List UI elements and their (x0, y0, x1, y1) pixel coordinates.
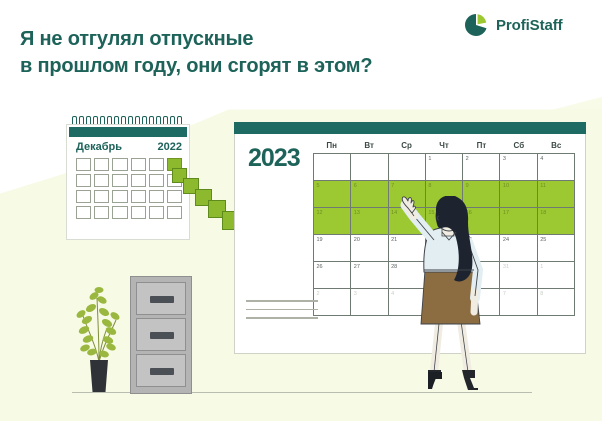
december-calendar-header-bar (69, 127, 187, 137)
brand-logo[interactable]: ProfiStaff (463, 12, 563, 38)
calendar-day-cell[interactable]: 27 (351, 262, 388, 289)
december-day-cell (76, 206, 91, 219)
december-day-cell (149, 206, 164, 219)
calendar-day-cell[interactable] (351, 154, 388, 181)
drawer-handle-icon (150, 368, 174, 375)
december-calendar: Декабрь 2022 (66, 116, 190, 240)
calendar-day-number: 8 (540, 291, 543, 297)
december-day-cell (112, 158, 127, 171)
calendar-day-cell[interactable]: 3 (351, 289, 388, 316)
december-calendar-title: Декабрь 2022 (76, 141, 182, 153)
day-of-week-1: Вт (350, 141, 387, 153)
wall-calendar-year: 2023 (248, 144, 300, 173)
note-line (246, 317, 318, 319)
day-of-week-header-row: ПнВтСрЧтПтСбВс (313, 141, 575, 153)
december-month-label: Декабрь (76, 141, 122, 153)
december-day-cell (149, 158, 164, 171)
calendar-day-number: 26 (317, 264, 323, 270)
december-day-cell (94, 206, 109, 219)
calendar-day-number: 27 (354, 264, 360, 270)
december-day-cell (112, 174, 127, 187)
december-day-cell (167, 158, 182, 171)
day-of-week-5: Сб (500, 141, 537, 153)
calendar-day-number: 19 (317, 237, 323, 243)
december-day-cell (131, 174, 146, 187)
december-day-cell (112, 190, 127, 203)
calendar-day-number: 7 (391, 183, 394, 189)
december-calendar-grid (76, 158, 182, 219)
calendar-day-cell[interactable]: 19 (314, 235, 351, 262)
december-day-cell (76, 174, 91, 187)
day-of-week-3: Чт (425, 141, 462, 153)
cabinet-drawer-1 (136, 282, 186, 315)
calendar-day-cell[interactable]: 8 (538, 289, 575, 316)
december-year-label: 2022 (158, 141, 182, 153)
cabinet-drawer-2 (136, 318, 186, 351)
calendar-day-number: 11 (540, 183, 546, 189)
illustration-scene: Я не отгулял отпускные в прошлом году, о… (0, 0, 602, 421)
pie-chart-logo-icon (463, 12, 489, 38)
december-day-cell (167, 190, 182, 203)
calendar-day-number: 6 (354, 183, 357, 189)
calendar-day-cell[interactable]: 2 (463, 154, 500, 181)
calendar-day-number: 2 (466, 156, 469, 162)
calendar-day-cell[interactable]: 13 (351, 208, 388, 235)
calendar-day-cell[interactable]: 3 (500, 154, 537, 181)
calendar-day-cell[interactable]: 11 (538, 181, 575, 208)
december-day-cell (76, 190, 91, 203)
filing-cabinet-icon (130, 276, 192, 394)
calendar-day-cell[interactable]: 4 (538, 154, 575, 181)
calendar-day-cell[interactable]: 1 (426, 154, 463, 181)
potted-plant-icon (74, 276, 126, 394)
woman-pointing-at-calendar-icon (392, 196, 522, 396)
calendar-note-lines (246, 300, 318, 326)
headline-line-1: Я не отгулял отпускные (20, 26, 450, 53)
calendar-day-number: 3 (354, 291, 357, 297)
december-day-cell (94, 158, 109, 171)
calendar-day-number: 8 (428, 183, 431, 189)
calendar-day-cell[interactable]: 2 (314, 289, 351, 316)
calendar-day-cell[interactable] (314, 154, 351, 181)
note-line (246, 309, 318, 311)
december-day-cell (112, 206, 127, 219)
plant-pot (90, 360, 108, 392)
december-day-cell (149, 190, 164, 203)
december-day-cell (167, 206, 182, 219)
calendar-day-number: 12 (317, 210, 323, 216)
calendar-day-cell[interactable]: 6 (351, 181, 388, 208)
cabinet-drawer-3 (136, 354, 186, 387)
december-day-cell (131, 206, 146, 219)
calendar-day-cell[interactable] (389, 154, 426, 181)
calendar-day-cell[interactable]: 20 (351, 235, 388, 262)
december-day-cell (94, 190, 109, 203)
calendar-day-number: 2 (317, 291, 320, 297)
day-of-week-0: Пн (313, 141, 350, 153)
headline-line-2: в прошлом году, они сгорят в этом? (20, 53, 450, 80)
calendar-day-cell[interactable]: 5 (314, 181, 351, 208)
december-day-cell (131, 190, 146, 203)
day-of-week-2: Ср (388, 141, 425, 153)
day-of-week-4: Пт (463, 141, 500, 153)
december-day-cell (76, 158, 91, 171)
calendar-day-number: 4 (540, 156, 543, 162)
december-day-cell (167, 174, 182, 187)
calendar-day-number: 18 (540, 210, 546, 216)
december-day-cell (131, 158, 146, 171)
calendar-day-number: 1 (540, 264, 543, 270)
calendar-day-number: 5 (317, 183, 320, 189)
calendar-day-cell[interactable]: 18 (538, 208, 575, 235)
calendar-day-cell[interactable]: 26 (314, 262, 351, 289)
calendar-day-cell[interactable]: 25 (538, 235, 575, 262)
calendar-day-number: 20 (354, 237, 360, 243)
calendar-day-cell[interactable]: 12 (314, 208, 351, 235)
headline: Я не отгулял отпускные в прошлом году, о… (20, 26, 450, 80)
calendar-day-number: 25 (540, 237, 546, 243)
calendar-day-number: 3 (503, 156, 506, 162)
drawer-handle-icon (150, 332, 174, 339)
brand-name: ProfiStaff (496, 17, 563, 34)
december-day-cell (149, 174, 164, 187)
calendar-week-row: 1234 (314, 154, 575, 181)
calendar-day-number: 13 (354, 210, 360, 216)
calendar-day-number: 1 (428, 156, 431, 162)
drawer-handle-icon (150, 296, 174, 303)
december-day-cell (94, 174, 109, 187)
calendar-day-cell[interactable]: 1 (538, 262, 575, 289)
note-line (246, 300, 318, 302)
calendar-day-number: 10 (503, 183, 509, 189)
day-of-week-6: Вс (538, 141, 575, 153)
calendar-day-number: 9 (466, 183, 469, 189)
